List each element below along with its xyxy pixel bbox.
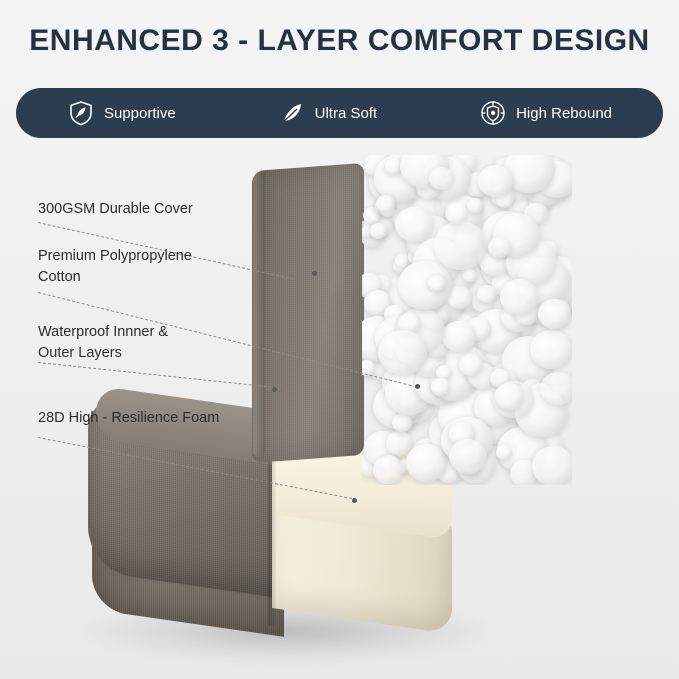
cotton-puff [376,195,395,212]
callout-cotton: Premium Polypropylene Cotton [38,246,192,288]
leader-dot-cover [312,271,317,276]
cotton-puff [459,354,483,376]
cotton-puff [442,321,476,353]
cotton-fill-layer [362,155,572,485]
shield-rebound-icon [479,99,507,127]
cotton-puff [370,223,387,239]
callout-waterproof: Waterproof Innner & Outer Layers [38,322,168,364]
cotton-puff [478,165,514,198]
cotton-puff [538,299,571,329]
leader-dot-foam [352,498,357,503]
feature-high-rebound-label: High Rebound [516,105,612,122]
feature-high-rebound: High Rebound [473,99,618,127]
cotton-puff [373,456,404,484]
callout-cover: 300GSM Durable Cover [38,199,193,220]
cotton-puff [530,330,572,369]
cotton-puff [488,237,511,258]
backrest-seam [253,169,265,458]
cotton-puff [428,275,445,291]
cotton-puff [449,439,487,474]
feature-ultra-soft-label: Ultra Soft [315,105,378,122]
cotton-puff [532,446,572,485]
cotton-puff [434,221,487,270]
feature-ultra-soft: Ultra Soft [272,99,384,127]
foam-core-edge [268,440,276,626]
cotton-puff [406,444,447,482]
callout-foam: 28D High - Resilience Foam [38,408,219,429]
feature-supportive-label: Supportive [104,105,176,122]
cotton-puff [477,285,497,304]
leader-dot-waterproof [272,387,277,392]
feature-bar: Supportive Ultra Soft High Rebound [16,88,663,138]
cotton-puff [446,203,468,223]
cotton-puff [496,445,513,460]
cotton-puff [495,383,524,410]
feather-icon [278,99,306,127]
page-title: ENHANCED 3 - LAYER COMFORT DESIGN [0,24,679,58]
product-infographic: ENHANCED 3 - LAYER COMFORT DESIGN Suppor… [0,0,679,679]
feature-supportive: Supportive [61,99,182,127]
shield-feather-icon [67,99,95,127]
cotton-puff [500,279,539,315]
leader-dot-cotton [415,384,420,389]
backrest-fabric-layer [252,163,364,463]
cotton-puff [540,372,572,405]
